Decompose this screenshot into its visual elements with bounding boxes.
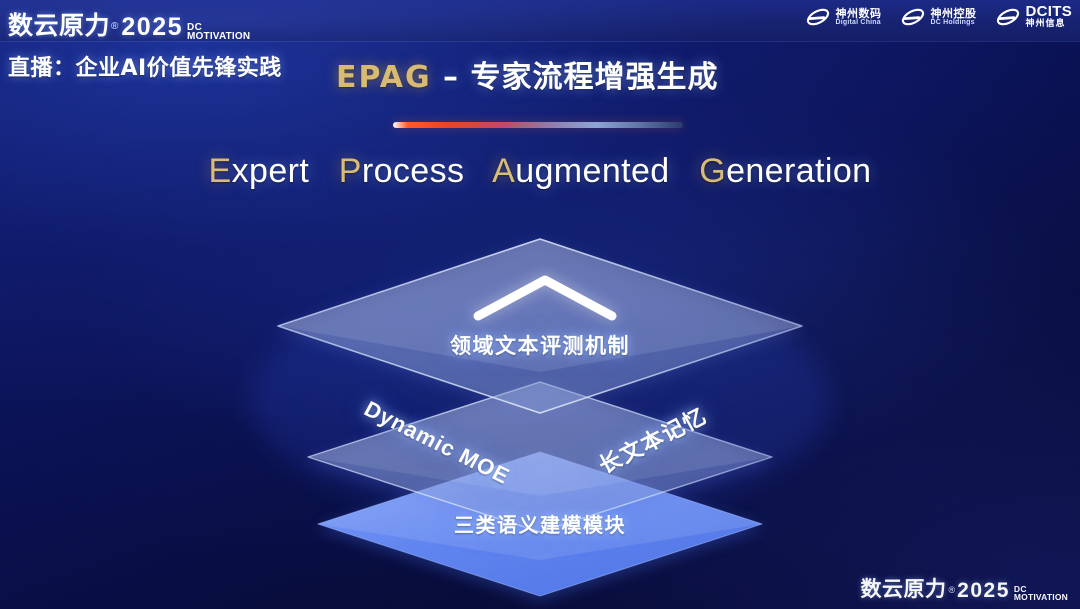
partner-logo-dcits: DCITS 神州信息 [995,4,1073,30]
layer-top-plate [278,239,802,413]
subtitle-word-expert: Expert [209,152,310,190]
title-chinese: 专家流程增强生成 [470,60,718,95]
subtitle-space [319,152,329,190]
subtitle-initial: G [699,152,726,190]
brand-registered-mark: ® [111,21,118,32]
title-acronym: EPAG [336,60,432,95]
slide-canvas: 数云原力 ® 2025 DC MOTIVATION 神州数码 Digital C… [0,0,1080,609]
partner-name-cn: 神州控股 [931,8,977,20]
brand-chinese: 数云原力 [8,6,110,42]
swirl-logo-icon [995,4,1021,30]
stack-ambient-glow [250,280,830,520]
partner-name-en: DC Holdings [931,19,977,26]
brand-registered-mark: ® [949,585,956,595]
partner-name-en: DCITS [1026,4,1073,20]
swirl-logo-icon [900,4,926,30]
swirl-logo-icon [805,4,831,30]
layer-top-label: 领域文本评测机制 [0,330,1080,360]
title-separator: – [432,60,471,95]
partner-logo-dc-holdings: 神州控股 DC Holdings [900,4,977,30]
subtitle-initial: A [492,152,515,190]
brand-motivation: MOTIVATION [1014,594,1068,602]
partner-label: 神州数码 Digital China [836,8,882,27]
partner-name-en: Digital China [836,19,882,26]
brand-chinese: 数云原力 [861,573,947,603]
subtitle-rest: xpert [232,152,310,190]
subtitle-word-augmented: Augmented [492,152,670,190]
layer-bottom-label: 三类语义建模模块 [0,509,1080,538]
chevron-up-icon [478,280,612,316]
subtitle-initial: P [339,152,362,190]
subtitle-initial: E [209,152,232,190]
subtitle-rest: eneration [726,152,871,190]
gradient-divider [393,122,683,128]
brand-dc-motivation: DC MOTIVATION [1014,586,1068,602]
live-broadcast-label: 直播：企业AI价值先锋实践 [8,50,282,82]
subtitle-expansion: Expert Process Augmented Generation [0,152,1080,191]
subtitle-rest: rocess [362,152,465,190]
layer-bottom-highlight [318,452,762,560]
brand-year: 2025 [957,579,1010,603]
layer-middle-label-right: 长文本记忆 [592,399,712,480]
partner-logo-group: 神州数码 Digital China 神州控股 DC Holdings [805,4,1073,30]
layer-middle-label-left: Dynamic MOE [360,396,515,490]
brand-motivation: MOTIVATION [187,32,250,41]
partner-label: DCITS 神州信息 [1026,4,1073,29]
partner-logo-digital-china: 神州数码 Digital China [805,4,882,30]
diagram-layer-top [275,239,805,418]
subtitle-space [474,152,484,190]
partner-name-cn: 神州数码 [836,8,882,20]
subtitle-space [679,152,689,190]
page-title: EPAG – 专家流程增强生成 [336,52,718,96]
brand-dc-motivation: DC MOTIVATION [187,23,250,41]
subtitle-word-generation: Generation [699,152,871,190]
partner-name-cn: 神州信息 [1026,20,1073,29]
brand-logo-watermark: 数云原力 ® 2025 DC MOTIVATION [861,573,1068,603]
subtitle-rest: ugmented [515,152,669,190]
subtitle-word-process: Process [339,152,465,190]
partner-label: 神州控股 DC Holdings [931,8,977,27]
brand-year: 2025 [121,13,183,42]
brand-logo-top: 数云原力 ® 2025 DC MOTIVATION [8,6,250,42]
